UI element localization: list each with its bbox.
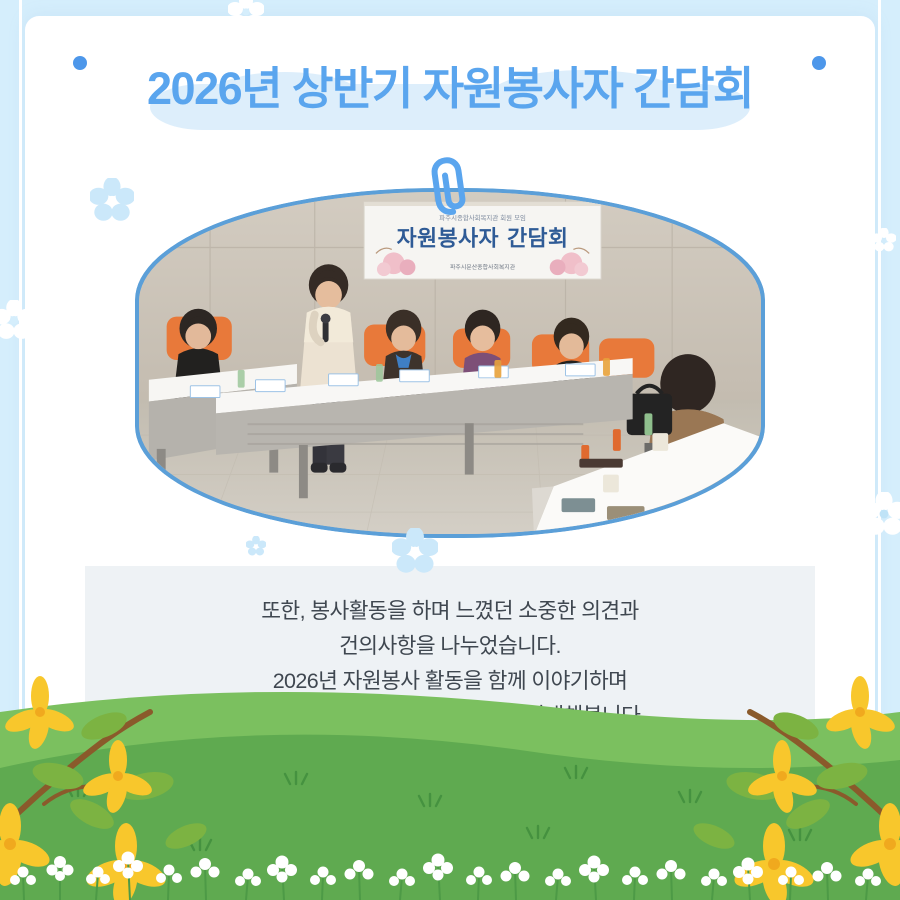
title-block: 2026년 상반기 자원봉사자 간담회 [0,52,900,117]
flower-icon [228,0,264,30]
description-line-1: 또한, 봉사활동을 하며 느꼈던 소중한 의견과 [261,594,638,629]
event-photo[interactable]: 파주시종합사회복지관 회원 모임 자원봉사자 간담회 파주시문산종합사회복지관 [135,188,765,538]
page-title: 2026년 상반기 자원봉사자 간담회 [147,52,753,117]
flower-icon [90,178,134,222]
svg-text:파주시문산종합사회복지관: 파주시문산종합사회복지관 [450,263,516,271]
meeting-room-illustration: 파주시종합사회복지관 회원 모임 자원봉사자 간담회 파주시문산종합사회복지관 [139,192,761,534]
description-panel: 또한, 봉사활동을 하며 느꼈던 소중한 의견과 건의사항을 나누었습니다. 2… [85,566,815,761]
description-line-4: 앞으로도 이어질 따뜻한 동행을 기대해봅니다. [254,699,645,734]
flower-icon [0,300,34,340]
white-flower-right [862,492,900,536]
photo-image: 파주시종합사회복지관 회원 모임 자원봉사자 간담회 파주시문산종합사회복지관 [139,192,761,534]
blue-flower-below-photo [392,528,438,574]
left-stripe [19,0,22,900]
banner: 파주시종합사회복지관 회원 모임 자원봉사자 간담회 파주시문산종합사회복지관 [364,202,601,279]
white-flower-top [228,0,264,30]
blue-flower-small-left [246,536,266,556]
right-stripe [878,0,881,900]
svg-text:자원봉사자 간담회: 자원봉사자 간담회 [397,227,569,252]
blue-flower-upper-left [90,178,134,222]
flower-icon [862,492,900,536]
description-line-2: 건의사항을 나누었습니다. [339,629,561,664]
flower-icon [246,536,266,556]
flower-icon [872,228,896,252]
description-line-3: 2026년 자원봉사 활동을 함께 이야기하며 [273,664,628,699]
flower-icon [392,528,438,574]
white-flower-right-small [872,228,896,252]
photo-frame: 파주시종합사회복지관 회원 모임 자원봉사자 간담회 파주시문산종합사회복지관 [135,188,765,538]
poster-canvas: 2026년 상반기 자원봉사자 간담회 [0,0,900,900]
white-flower-left [0,300,34,340]
